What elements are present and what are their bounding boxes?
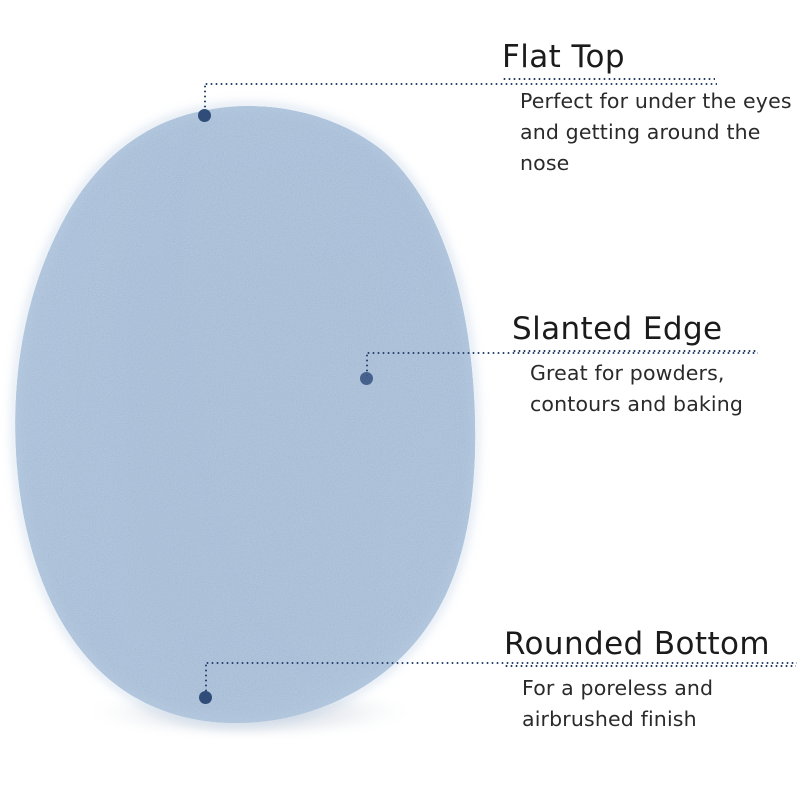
callout-dot-flat-top	[198, 109, 211, 122]
callout-title-flat-top: Flat Top	[502, 38, 800, 76]
product-feature-infographic: Flat Top Perfect for under the eyes and …	[0, 0, 800, 800]
callout-divider-flat-top	[502, 78, 715, 80]
callout-slanted-edge: Slanted Edge Great for powders, contours…	[512, 310, 800, 420]
callout-divider-rounded-bottom	[504, 665, 796, 667]
callout-title-slanted-edge: Slanted Edge	[512, 310, 800, 348]
callout-divider-slanted-edge	[512, 350, 757, 352]
callout-dot-slanted-edge	[360, 372, 373, 385]
callout-rounded-bottom: Rounded Bottom For a poreless and airbru…	[504, 625, 800, 735]
callout-body-flat-top: Perfect for under the eyes and getting a…	[502, 86, 800, 179]
callout-dot-rounded-bottom	[199, 691, 212, 704]
callout-flat-top: Flat Top Perfect for under the eyes and …	[502, 38, 800, 179]
callout-body-slanted-edge: Great for powders, contours and baking	[512, 358, 800, 420]
callout-title-rounded-bottom: Rounded Bottom	[504, 625, 800, 663]
callout-body-rounded-bottom: For a poreless and airbrushed finish	[504, 673, 800, 735]
